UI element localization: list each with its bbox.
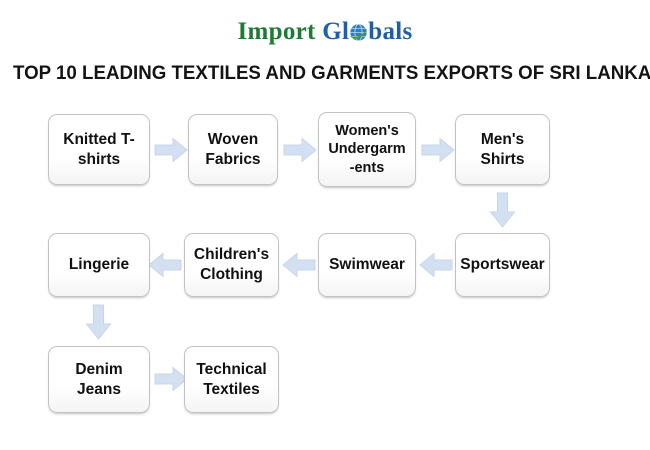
globe-icon: [349, 23, 368, 42]
flow-node-knitted-t-shirts[interactable]: Knitted T- shirts: [48, 114, 150, 185]
flow-node-label: Children's Clothing: [189, 245, 274, 285]
flow-node-sportswear[interactable]: Sportswear: [455, 233, 550, 297]
flow-node-womens-undergarments[interactable]: Women's Undergarm -ents: [318, 112, 416, 187]
arrow-down-icon: [489, 192, 516, 228]
diagram-canvas: Import Gl bals TOP 10 LEADING TEXTILES A…: [0, 0, 650, 450]
flow-node-label: Lingerie: [64, 255, 134, 275]
flow-node-label: Men's Shirts: [476, 130, 530, 170]
flow-node-label: Sportswear: [455, 255, 549, 275]
logo-text-glob: Gl: [322, 18, 349, 45]
flow-node-woven-fabrics[interactable]: Woven Fabrics: [188, 114, 278, 185]
flow-node-label: Technical Textiles: [191, 360, 271, 400]
arrow-right-icon: [154, 137, 188, 163]
arrow-right-icon: [154, 366, 188, 392]
arrow-left-icon: [419, 252, 453, 278]
flow-node-technical-textiles[interactable]: Technical Textiles: [184, 346, 279, 413]
flow-node-mens-shirts[interactable]: Men's Shirts: [455, 114, 550, 185]
arrow-left-icon: [282, 252, 316, 278]
brand-logo: Import Gl bals: [0, 18, 650, 46]
arrow-right-icon: [283, 137, 317, 163]
flow-node-childrens-clothing[interactable]: Children's Clothing: [184, 233, 279, 297]
arrow-left-icon: [148, 252, 182, 278]
logo-text-import: Import: [237, 18, 315, 45]
flow-node-swimwear[interactable]: Swimwear: [318, 233, 416, 297]
page-title: TOP 10 LEADING TEXTILES AND GARMENTS EXP…: [13, 62, 637, 85]
flow-node-label: Swimwear: [324, 255, 410, 275]
flow-node-label: Knitted T- shirts: [58, 130, 139, 170]
flow-node-denim-jeans[interactable]: Denim Jeans: [48, 346, 150, 413]
flow-node-label: Women's Undergarm -ents: [323, 122, 410, 178]
flow-node-label: Denim Jeans: [70, 360, 127, 400]
arrow-right-icon: [421, 137, 455, 163]
arrow-down-icon: [85, 304, 112, 340]
flow-node-lingerie[interactable]: Lingerie: [48, 233, 150, 297]
logo-text-als: bals: [368, 18, 412, 45]
flow-node-label: Woven Fabrics: [200, 130, 265, 170]
